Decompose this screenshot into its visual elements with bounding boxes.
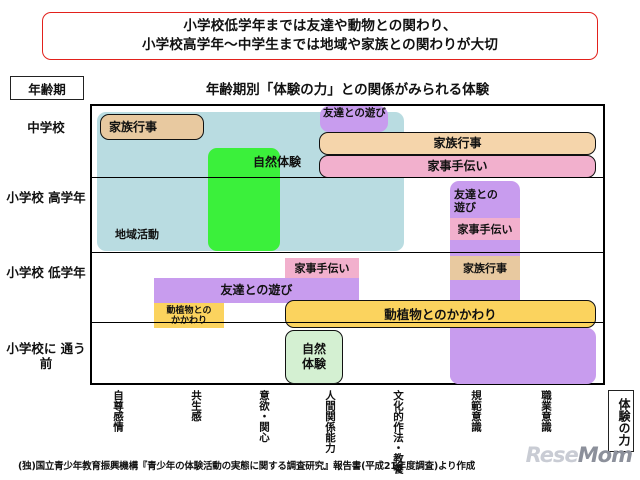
row-divider-1 [92,177,603,178]
headline-line-1: 小学校低学年までは友達や動物との関わり、 [183,17,456,36]
watermark: ReseMom [526,443,632,467]
row-label-preschool: 小学校に 通う前 [4,341,88,371]
block-friends-play-top: 友達との遊び [320,106,388,132]
age-group-tag: 年齢期 [10,76,84,100]
row-label-elem-lower: 小学校 低学年 [4,265,88,280]
row-divider-3 [92,322,603,323]
block-family-event-jh-left: 家族行事 [100,114,204,140]
x-label-relationship: 人間関係能力 [324,390,335,453]
block-family-event-lower-elem: 家族行事 [450,256,520,280]
x-label-coexistence: 共生感 [190,390,201,422]
row-label-junior-high: 中学校 [4,120,88,135]
block-friends-play-norm-extension [450,328,596,384]
block-family-event-jh-right: 家族行事 [319,132,596,155]
x-label-motivation: 意欲・関心 [258,390,269,443]
x-label-self-esteem: 自尊感情 [112,390,123,432]
chart-plot-area: 地域活動 自然体験 友達との遊び 家族行事 家族行事 家事手伝い 友達との 遊び… [90,104,605,385]
chart-title: 年齢期別「体験の力」との関係がみられる体験 [90,78,605,98]
row-label-elem-upper: 小学校 高学年 [4,190,88,205]
block-chores-upper-elem: 家事手伝い [450,218,520,240]
headline-line-2: 小学校高学年～中学生までは地域や家族との関わりが大切 [142,36,498,55]
block-chores-lower-elem-left: 家事手伝い [285,258,359,278]
x-label-norm-awareness: 規範意識 [470,390,481,432]
x-label-work-awareness: 職業意識 [540,390,551,432]
watermark-light: Rese [526,443,578,467]
block-nature-experience-green-label: 自然体験 [232,154,322,170]
row-divider-2 [92,252,603,253]
block-nature-experience-preschool: 自然 体験 [285,330,343,384]
headline-callout: 小学校低学年までは友達や動物との関わり、 小学校高学年～中学生までは地域や家族と… [42,12,598,60]
watermark-dark: Mom [578,443,632,467]
block-animals-plants-large: 動植物とのかかわり [285,300,596,328]
block-animals-plants-small: 動植物との かかわり [154,303,224,328]
block-chores-jh-right: 家事手伝い [319,155,596,178]
block-friends-play-upper-label: 友達との 遊び [454,186,518,216]
